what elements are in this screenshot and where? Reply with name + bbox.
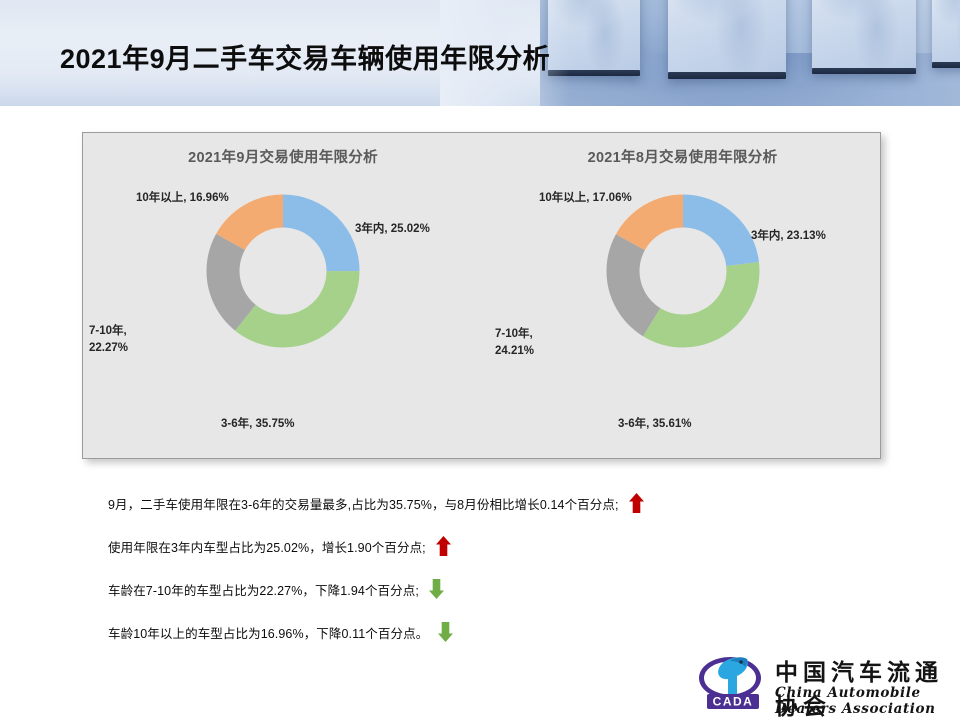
chart-title-september: 2021年9月交易使用年限分析 (83, 146, 483, 167)
findings-list: 9月，二手车使用年限在3-6年的交易量最多,占比为35.75%，与8月份相比增长… (108, 484, 808, 656)
pie-label-within-3y: 3年内, 23.13% (751, 228, 826, 245)
decorative-cube (812, 0, 916, 74)
finding-item: 车龄在7-10年的车型占比为22.27%，下降1.94个百分点; (108, 570, 808, 608)
finding-text: 使用年限在3年内车型占比为25.02%，增长1.90个百分点; (108, 537, 426, 556)
finding-item: 使用年限在3年内车型占比为25.02%，增长1.90个百分点; (108, 527, 808, 565)
finding-item: 车龄10年以上的车型占比为16.96%，下降0.11个百分点。 (108, 613, 808, 651)
slide-header-banner: 2021年9月二手车交易车辆使用年限分析 (0, 0, 960, 106)
finding-text: 车龄10年以上的车型占比为16.96%，下降0.11个百分点。 (108, 623, 428, 642)
header-decorative-cubes-image (540, 0, 960, 106)
page-title: 2021年9月二手车交易车辆使用年限分析 (60, 37, 550, 76)
logo-name-en: China Automobile Dealers Association (775, 685, 952, 717)
arrow-up-icon (628, 492, 645, 514)
cada-logo: CADA 中国汽车流通协会 China Automobile Dealers A… (697, 651, 952, 713)
arrow-up-icon (435, 535, 452, 557)
pie-label-within-3y: 3年内, 25.02% (355, 221, 430, 238)
chart-august: 2021年8月交易使用年限分析 10年以上, 17.06% (483, 133, 882, 460)
finding-text: 9月，二手车使用年限在3-6年的交易量最多,占比为35.75%，与8月份相比增长… (108, 494, 619, 513)
arrow-down-icon (437, 621, 454, 643)
pie-label-7-10y: 7-10年, 22.27% (89, 323, 128, 358)
decorative-cube (932, 0, 960, 67)
arrow-down-icon (428, 578, 445, 600)
pie-label-7-10y: 7-10年, 24.21% (495, 326, 534, 361)
donut-svg-september (198, 186, 368, 356)
donut-svg-august (598, 186, 768, 356)
cada-emblem-icon: CADA (697, 651, 769, 711)
decorative-cube-shadow (932, 62, 960, 68)
charts-panel: 2021年9月交易使用年限分析 10年以上, (82, 132, 881, 459)
pie-label-3-6y: 3-6年, 35.61% (618, 416, 692, 433)
chart-september: 2021年9月交易使用年限分析 10年以上, (83, 133, 483, 460)
pie-label-over-10y: 10年以上, 17.06% (539, 190, 632, 207)
donut-chart-august (598, 186, 768, 356)
decorative-cube (668, 0, 786, 78)
pie-label-3-6y: 3-6年, 35.75% (221, 416, 295, 433)
pie-label-over-10y: 10年以上, 16.96% (136, 190, 229, 207)
donut-chart-september (198, 186, 368, 356)
finding-item: 9月，二手车使用年限在3-6年的交易量最多,占比为35.75%，与8月份相比增长… (108, 484, 808, 522)
chart-title-august: 2021年8月交易使用年限分析 (483, 146, 882, 167)
svg-text:CADA: CADA (713, 695, 754, 709)
finding-text: 车龄在7-10年的车型占比为22.27%，下降1.94个百分点; (108, 580, 419, 599)
decorative-cube-shadow (812, 68, 916, 74)
slide-root: 2021年9月二手车交易车辆使用年限分析 2021年9月交易使用年限分析 (0, 0, 960, 720)
decorative-cube-shadow (668, 72, 786, 79)
